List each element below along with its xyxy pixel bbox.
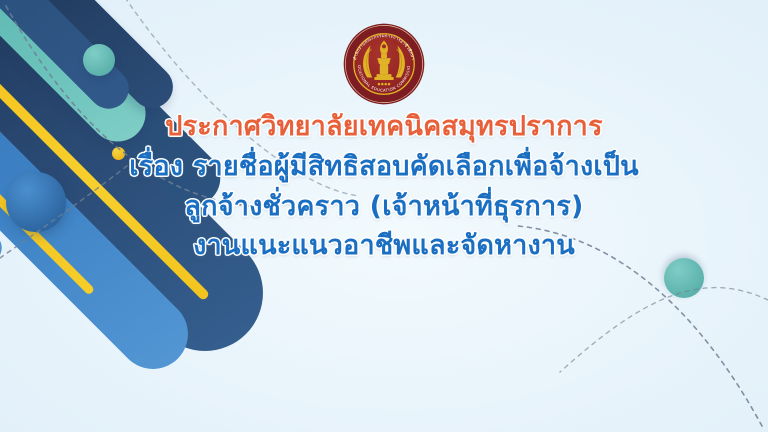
teal-circle-bottom (664, 258, 704, 298)
college-logo: สำนักงานคณะกรรมการการอาชีวศึกษา VOCATION… (342, 22, 426, 106)
headline-line-3: ลูกจ้างชั่วคราว (เจ้าหน้าที่ธุรการ) (0, 192, 768, 223)
headline-line-2: เรื่อง รายชื่อผู้มีสิทธิสอบคัดเลือกเพื่อ… (0, 152, 768, 183)
headline-block: ประกาศวิทยาลัยเทคนิคสมุทรปราการ เรื่อง ร… (0, 112, 768, 262)
announcement-poster: สำนักงานคณะกรรมการการอาชีวศึกษา VOCATION… (0, 0, 768, 432)
headline-line-4: งานแนะแนวอาชีพและจัดหางาน (0, 231, 768, 262)
vocational-education-commission-seal-icon: สำนักงานคณะกรรมการการอาชีวศึกษา VOCATION… (342, 22, 426, 106)
headline-line-1: ประกาศวิทยาลัยเทคนิคสมุทรปราการ (0, 112, 768, 143)
teal-circle-top (83, 44, 115, 76)
